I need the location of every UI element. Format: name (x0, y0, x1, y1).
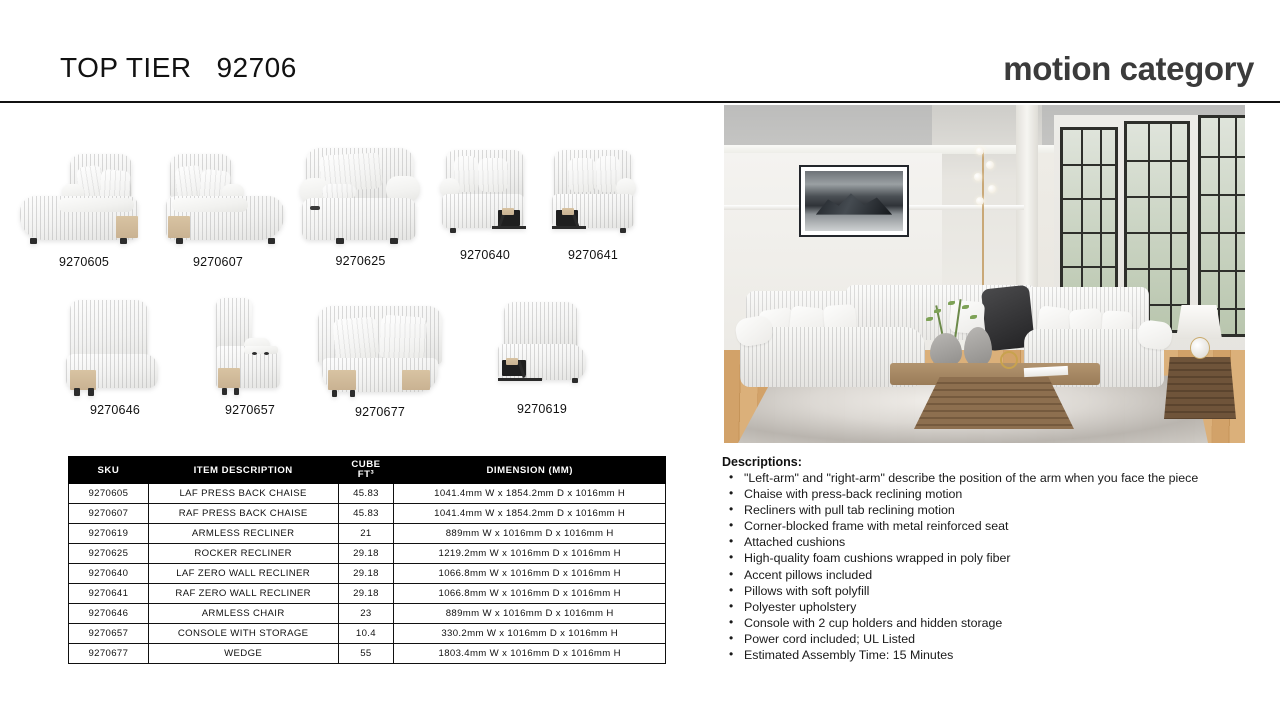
product-code: 9270625 (335, 254, 385, 268)
product-item[interactable]: 9270605 (14, 140, 154, 269)
cell-dimension: 1803.4mm W x 1016mm D x 1016mm H (394, 644, 666, 664)
column-header-cube: CUBE FT³ (338, 457, 394, 484)
cell-description: CONSOLE WITH STORAGE (148, 624, 338, 644)
side-table (1164, 357, 1236, 419)
cell-dimension: 1041.4mm W x 1854.2mm D x 1016mm H (394, 504, 666, 524)
product-item[interactable]: 9270640 (440, 148, 530, 262)
cell-dimension: 1066.8mm W x 1016mm D x 1016mm H (394, 584, 666, 604)
product-code: 9270640 (460, 248, 510, 262)
product-image-9270677 (310, 300, 450, 405)
product-image-9270640 (440, 148, 530, 248)
description-item: Corner-blocked frame with metal reinforc… (722, 519, 1222, 534)
cell-dimension: 1066.8mm W x 1016mm D x 1016mm H (394, 564, 666, 584)
cell-dimension: 1041.4mm W x 1854.2mm D x 1016mm H (394, 484, 666, 504)
description-item: Power cord included; UL Listed (722, 632, 1222, 647)
table-row: 9270625ROCKER RECLINER29.181219.2mm W x … (69, 544, 666, 564)
description-item: Recliners with pull tab reclining motion (722, 503, 1222, 518)
column-header-sku: SKU (69, 457, 149, 484)
cell-sku: 9270605 (69, 484, 149, 504)
description-item: Estimated Assembly Time: 15 Minutes (722, 648, 1222, 663)
product-code: 9270641 (568, 248, 618, 262)
floor-lamp (982, 150, 984, 300)
cell-sku: 9270619 (69, 524, 149, 544)
table-lamp-shade (1176, 305, 1222, 339)
product-code: 9270657 (225, 403, 275, 417)
description-item: "Left-arm" and "right-arm" describe the … (722, 471, 1222, 486)
cell-description: ROCKER RECLINER (148, 544, 338, 564)
cell-description: RAF ZERO WALL RECLINER (148, 584, 338, 604)
cell-sku: 9270625 (69, 544, 149, 564)
cell-sku: 9270607 (69, 504, 149, 524)
cell-description: ARMLESS RECLINER (148, 524, 338, 544)
cell-cube: 29.18 (338, 564, 394, 584)
product-image-9270619 (484, 302, 600, 402)
product-image-9270625 (298, 144, 423, 254)
description-item: High-quality foam cushions wrapped in po… (722, 551, 1222, 566)
brand-logo-text: motion category (1003, 50, 1254, 88)
table-row: 9270605LAF PRESS BACK CHAISE45.831041.4m… (69, 484, 666, 504)
cell-cube: 23 (338, 604, 394, 624)
cell-sku: 9270641 (69, 584, 149, 604)
column-header-dimension: DIMENSION (MM) (394, 457, 666, 484)
cell-cube: 29.18 (338, 584, 394, 604)
cell-sku: 9270657 (69, 624, 149, 644)
decor-vase (964, 327, 992, 367)
column-header-description: ITEM DESCRIPTION (148, 457, 338, 484)
product-item[interactable]: 9270677 (310, 300, 450, 419)
table-header: SKU ITEM DESCRIPTION CUBE FT³ DIMENSION … (69, 457, 666, 484)
product-gallery: 9270605 9270607 (0, 110, 700, 440)
room-scene-photo (724, 105, 1245, 443)
decor-vase (930, 333, 962, 367)
description-item: Pillows with soft polyfill (722, 584, 1222, 599)
product-image-9270646 (60, 298, 170, 403)
description-item: Attached cushions (722, 535, 1222, 550)
spec-table: SKU ITEM DESCRIPTION CUBE FT³ DIMENSION … (68, 456, 666, 664)
descriptions-title: Descriptions: (722, 455, 1222, 469)
table-row: 9270607RAF PRESS BACK CHAISE45.831041.4m… (69, 504, 666, 524)
description-item: Chaise with press-back reclining motion (722, 487, 1222, 502)
table-row: 9270640LAF ZERO WALL RECLINER29.181066.8… (69, 564, 666, 584)
product-image-9270605 (14, 140, 154, 255)
table-lamp-base (1190, 337, 1210, 359)
product-item[interactable]: 9270625 (298, 144, 423, 268)
column-header-cube-line2: FT³ (339, 470, 394, 480)
cell-dimension: 1219.2mm W x 1016mm D x 1016mm H (394, 544, 666, 564)
table-row: 9270641RAF ZERO WALL RECLINER29.181066.8… (69, 584, 666, 604)
cell-description: WEDGE (148, 644, 338, 664)
product-item[interactable]: 9270641 (548, 148, 638, 262)
product-item[interactable]: 9270607 (148, 140, 288, 269)
wall-art (799, 165, 909, 237)
description-item: Accent pillows included (722, 568, 1222, 583)
cell-cube: 10.4 (338, 624, 394, 644)
table-body: 9270605LAF PRESS BACK CHAISE45.831041.4m… (69, 484, 666, 664)
cell-dimension: 889mm W x 1016mm D x 1016mm H (394, 604, 666, 624)
product-item[interactable]: 9270646 (60, 298, 170, 417)
window-right-icon (1198, 115, 1245, 337)
table-row: 9270657CONSOLE WITH STORAGE10.4330.2mm W… (69, 624, 666, 644)
table-row: 9270677WEDGE551803.4mm W x 1016mm D x 10… (69, 644, 666, 664)
cell-sku: 9270677 (69, 644, 149, 664)
table-row: 9270619ARMLESS RECLINER21889mm W x 1016m… (69, 524, 666, 544)
cell-cube: 45.83 (338, 504, 394, 524)
description-item: Polyester upholstery (722, 600, 1222, 615)
cell-cube: 45.83 (338, 484, 394, 504)
table-row: 9270646ARMLESS CHAIR23889mm W x 1016mm D… (69, 604, 666, 624)
product-item[interactable]: 9270619 (484, 302, 600, 416)
product-code: 9270619 (517, 402, 567, 416)
product-code: 9270677 (355, 405, 405, 419)
product-image-9270641 (548, 148, 638, 248)
cell-description: LAF PRESS BACK CHAISE (148, 484, 338, 504)
product-code: 9270607 (193, 255, 243, 269)
header-divider (0, 101, 1280, 103)
description-item: Console with 2 cup holders and hidden st… (722, 616, 1222, 631)
cell-cube: 29.18 (338, 544, 394, 564)
product-code: 9270646 (90, 403, 140, 417)
cell-cube: 55 (338, 644, 394, 664)
product-image-9270657 (200, 298, 300, 403)
cell-sku: 9270646 (69, 604, 149, 624)
product-item[interactable]: 9270657 (200, 298, 300, 417)
cell-description: LAF ZERO WALL RECLINER (148, 564, 338, 584)
decor-sphere (1000, 351, 1018, 369)
coffee-table-base (914, 377, 1074, 429)
cell-description: RAF PRESS BACK CHAISE (148, 504, 338, 524)
descriptions-list: "Left-arm" and "right-arm" describe the … (722, 471, 1222, 663)
cell-dimension: 889mm W x 1016mm D x 1016mm H (394, 524, 666, 544)
table-header-row: SKU ITEM DESCRIPTION CUBE FT³ DIMENSION … (69, 457, 666, 484)
cell-dimension: 330.2mm W x 1016mm D x 1016mm H (394, 624, 666, 644)
product-image-9270607 (148, 140, 288, 255)
product-code: 9270605 (59, 255, 109, 269)
cell-description: ARMLESS CHAIR (148, 604, 338, 624)
descriptions-section: Descriptions: "Left-arm" and "right-arm"… (722, 455, 1222, 664)
page-title: TOP TIER 92706 (60, 52, 297, 84)
cell-sku: 9270640 (69, 564, 149, 584)
cell-cube: 21 (338, 524, 394, 544)
catalog-page: TOP TIER 92706 motion category 9270605 (0, 0, 1280, 720)
